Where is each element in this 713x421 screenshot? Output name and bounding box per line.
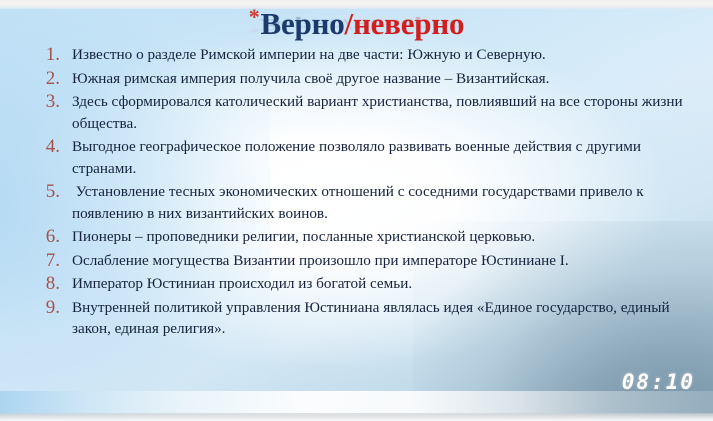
list-item[interactable]: 4.Выгодное географическое положение позв…: [30, 136, 689, 179]
list-item-number: 9.: [30, 297, 72, 319]
list-item-text: Южная римская империя получила своё друг…: [72, 68, 689, 90]
list-item[interactable]: 3.Здесь сформировался католический вариа…: [30, 91, 689, 134]
statement-list: 1.Известно о разделе Римской империи на …: [30, 44, 689, 342]
list-item-number: 2.: [30, 68, 72, 90]
list-item[interactable]: 2.Южная римская империя получила своё др…: [30, 68, 689, 90]
slide-title: *Верно/неверно: [249, 6, 465, 39]
list-item-text: Здесь сформировался католический вариант…: [72, 91, 689, 134]
slide-bottom-edge: [0, 413, 713, 421]
list-item-number: 7.: [30, 250, 72, 272]
list-item[interactable]: 6.Пионеры – проповедники религии, послан…: [30, 226, 689, 248]
list-item-number: 6.: [30, 226, 72, 248]
title-word-verno: Верно: [261, 6, 345, 41]
list-item-number: 8.: [30, 273, 72, 295]
list-item-number: 3.: [30, 91, 72, 113]
list-item[interactable]: 9.Внутренней политикой управления Юстини…: [30, 297, 689, 340]
list-item-text: Выгодное географическое положение позвол…: [72, 136, 689, 179]
list-item-number: 5.: [30, 181, 72, 203]
list-item-text: Ослабление могущества Византии произошло…: [72, 250, 689, 272]
title-word-neverno: /неверно: [345, 6, 465, 41]
slide-title-block: *Верно/неверно *Верно/неверно: [0, 6, 713, 68]
list-item[interactable]: 5. Установление тесных экономических отн…: [30, 181, 689, 224]
list-item-text: Император Юстиниан происходил из богатой…: [72, 273, 689, 295]
list-item-text: Внутренней политикой управления Юстиниан…: [72, 297, 689, 340]
list-item-text: Установление тесных экономических отноше…: [72, 181, 689, 224]
clock-timestamp: 08:10: [622, 370, 695, 394]
list-item[interactable]: 8.Император Юстиниан происходил из богат…: [30, 273, 689, 295]
list-item-number: 4.: [30, 136, 72, 158]
asterisk-icon: *: [249, 4, 260, 29]
list-item-text: Пионеры – проповедники религии, посланны…: [72, 226, 689, 248]
list-item[interactable]: 7.Ослабление могущества Византии произош…: [30, 250, 689, 272]
presentation-slide: *Верно/неверно *Верно/неверно 1.Известно…: [0, 0, 713, 421]
